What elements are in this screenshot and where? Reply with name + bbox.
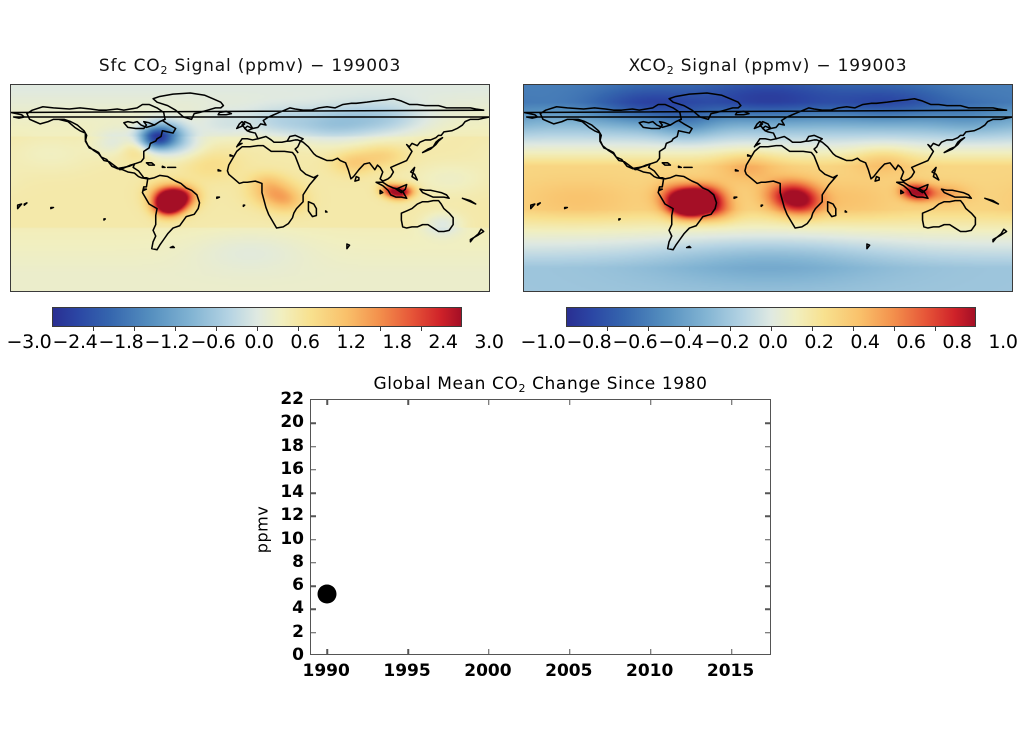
y-tick-mark [311, 585, 316, 587]
y-tick-mark [311, 609, 316, 611]
y-tick-mark [311, 492, 316, 494]
x-tick-label: 1995 [383, 661, 430, 681]
y-tick-label: 2 [292, 622, 304, 642]
x-tick-label: 2010 [626, 661, 673, 681]
right-map-title-rest: Signal (ppmv) − 199003 [675, 56, 908, 76]
colorbar-tick-label: 0.8 [934, 331, 980, 353]
y-tick-mark [311, 469, 316, 471]
line-plot-title: Global Mean CO2 Change Since 1980 [310, 374, 771, 394]
colorbar-tick-label: −1.2 [144, 331, 190, 353]
colorbar-tick-label: 0.4 [842, 331, 888, 353]
x-tick-mark [650, 400, 652, 405]
colorbar-tick-label: −2.4 [52, 331, 98, 353]
colorbar-tick-label: 0.2 [796, 331, 842, 353]
y-tick-label: 22 [280, 389, 304, 409]
colorbar-tick-label: −0.8 [566, 331, 612, 353]
y-tick-label: 4 [292, 598, 304, 618]
x-tick-label: 2005 [545, 661, 592, 681]
x-tick-mark [569, 400, 571, 405]
y-tick-mark [765, 632, 770, 634]
right-map-title-subscript: 2 [667, 64, 675, 77]
colorbar-tick-label: −0.4 [658, 331, 704, 353]
line-plot-title-subscript: 2 [518, 382, 526, 395]
colorbar-tick-label: 2.4 [420, 331, 466, 353]
y-tick-mark [311, 632, 316, 634]
y-tick-label: 16 [280, 459, 304, 479]
colorbar-tick-label: 0.6 [888, 331, 934, 353]
line-plot-title-main: Global Mean CO [373, 374, 518, 394]
colorbar-tick-label: 0.6 [282, 331, 328, 353]
y-tick-mark [311, 446, 316, 448]
y-tick-mark [765, 469, 770, 471]
colorbar-tick-label: −0.6 [612, 331, 658, 353]
y-tick-mark [311, 562, 316, 564]
x-tick-label: 2015 [707, 661, 754, 681]
y-tick-label: 20 [280, 412, 304, 432]
x-tick-mark [650, 649, 652, 654]
left-map-title-subscript: 2 [160, 64, 168, 77]
right-map-title: XCO2 Signal (ppmv) − 199003 [523, 56, 1013, 76]
left-colorbar-labels: −3.0−2.4−1.8−1.2−0.60.00.61.21.82.43.0 [6, 331, 508, 353]
x-tick-mark [488, 400, 490, 405]
colorbar-tick-label: 1.8 [374, 331, 420, 353]
colorbar-tick-label: 3.0 [466, 331, 512, 353]
colorbar-tick-label: 0.0 [236, 331, 282, 353]
colorbar-tick-label: 1.2 [328, 331, 374, 353]
colorbar-tick-label: −1.8 [98, 331, 144, 353]
y-tick-label: 18 [280, 436, 304, 456]
line-plot-title-rest: Change Since 1980 [526, 374, 707, 394]
right-map-coastlines [524, 85, 1012, 291]
right-map-title-main: XCO [629, 56, 667, 76]
x-tick-mark [488, 649, 490, 654]
x-tick-mark [731, 649, 733, 654]
colorbar-tick-label: 1.0 [980, 331, 1024, 353]
y-tick-mark [765, 516, 770, 518]
data-point-marker [318, 585, 337, 604]
left-map-title: Sfc CO2 Signal (ppmv) − 199003 [10, 56, 490, 76]
colorbar-tick-label: 0.0 [750, 331, 796, 353]
y-tick-label: 10 [280, 529, 304, 549]
y-tick-mark [765, 585, 770, 587]
left-colorbar[interactable]: −3.0−2.4−1.8−1.2−0.60.00.61.21.82.43.0 [52, 307, 462, 327]
left-colorbar-ramp [52, 307, 462, 327]
y-tick-mark [765, 539, 770, 541]
y-tick-label: 6 [292, 575, 304, 595]
x-tick-mark [407, 400, 409, 405]
x-tick-mark [326, 649, 328, 654]
y-tick-mark [765, 492, 770, 494]
y-tick-mark [311, 539, 316, 541]
y-tick-labels: 0246810121416182022 [250, 399, 304, 655]
y-tick-mark [765, 446, 770, 448]
left-map-title-rest: Signal (ppmv) − 199003 [168, 56, 401, 76]
y-tick-mark [765, 609, 770, 611]
colorbar-tick-label: −0.2 [704, 331, 750, 353]
x-tick-mark [569, 649, 571, 654]
y-tick-label: 12 [280, 505, 304, 525]
x-tick-labels: 199019952000200520102015 [310, 661, 771, 687]
y-tick-mark [311, 423, 316, 425]
y-tick-label: 14 [280, 482, 304, 502]
left-map-coastlines [11, 85, 489, 291]
x-tick-label: 2000 [464, 661, 511, 681]
line-plot-box[interactable] [310, 399, 771, 655]
y-tick-label: 8 [292, 552, 304, 572]
left-map-title-main: Sfc CO [99, 56, 161, 76]
x-tick-mark [326, 400, 328, 405]
right-colorbar-labels: −1.0−0.8−0.6−0.4−0.20.00.20.40.60.81.0 [520, 331, 1022, 353]
y-tick-mark [765, 423, 770, 425]
left-map-frame[interactable] [10, 84, 490, 292]
right-colorbar[interactable]: −1.0−0.8−0.6−0.4−0.20.00.20.40.60.81.0 [566, 307, 976, 327]
y-tick-mark [765, 562, 770, 564]
right-colorbar-ramp [566, 307, 976, 327]
x-tick-label: 1990 [303, 661, 350, 681]
right-map-frame[interactable] [523, 84, 1013, 292]
colorbar-tick-label: −0.6 [190, 331, 236, 353]
colorbar-tick-label: −1.0 [520, 331, 566, 353]
x-tick-mark [407, 649, 409, 654]
x-tick-mark [731, 400, 733, 405]
y-tick-mark [311, 516, 316, 518]
colorbar-tick-label: −3.0 [6, 331, 52, 353]
